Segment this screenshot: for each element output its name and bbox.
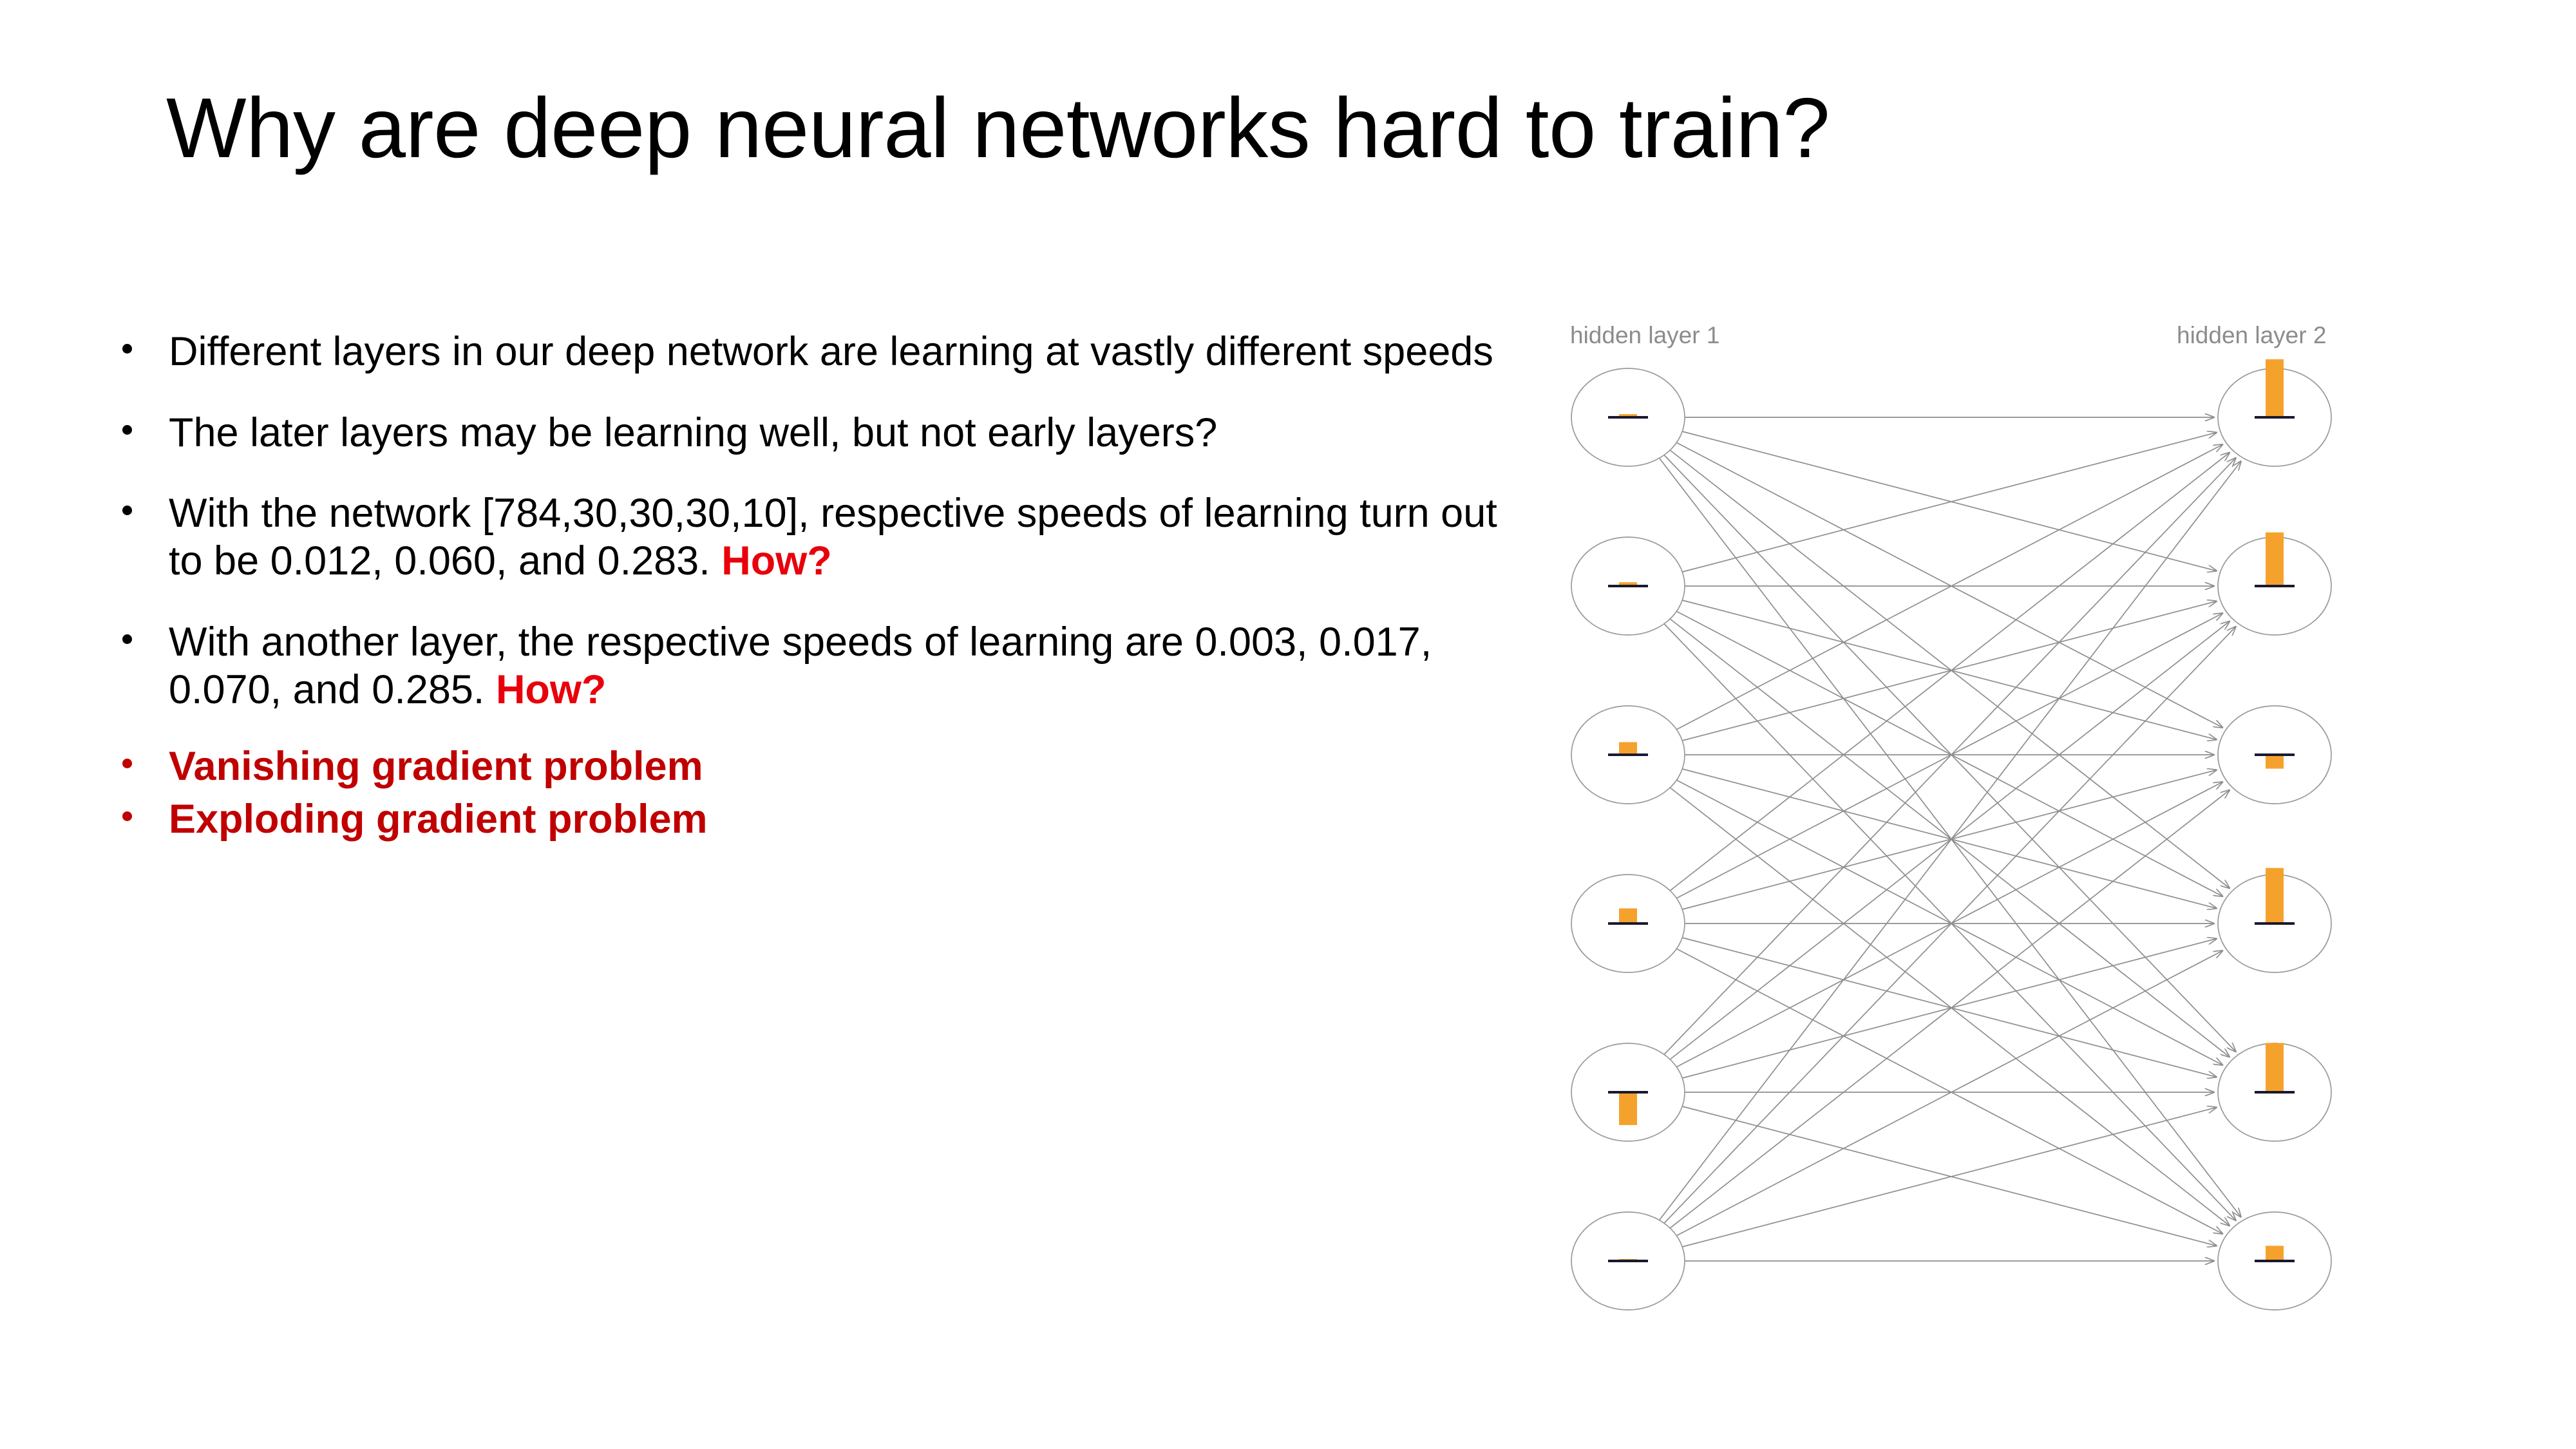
- network-edge: [1682, 1108, 2217, 1247]
- network-edge: [1664, 627, 2236, 1224]
- neuron-hidden-layer-1-6: [1571, 1212, 1685, 1310]
- how-emphasis: How?: [496, 667, 606, 712]
- network-edge: [1682, 600, 2217, 740]
- list-item: Different layers in our deep network are…: [116, 328, 1520, 376]
- network-edge: [1682, 433, 2217, 573]
- network-edge: [1664, 458, 2236, 1055]
- neuron-hidden-layer-1-1: [1571, 368, 1685, 466]
- network-edge: [1676, 780, 2222, 1065]
- network-edge: [1664, 624, 2236, 1221]
- bullet-text: Exploding gradient problem: [169, 797, 708, 842]
- neuron-hidden-layer-1-3: [1571, 706, 1685, 804]
- gradient-bar: [1619, 908, 1637, 923]
- gradient-bar: [1619, 742, 1637, 755]
- list-item: With another layer, the respective speed…: [116, 619, 1520, 714]
- gradient-bar: [2266, 868, 2284, 923]
- gradient-bar: [2266, 1043, 2284, 1092]
- gradient-bar: [1619, 1092, 1637, 1125]
- network-edge: [1676, 782, 2222, 1067]
- network-edge: [1682, 1106, 2217, 1246]
- neuron-hidden-layer-2-3: [2218, 706, 2331, 804]
- how-emphasis: How?: [721, 538, 831, 583]
- gradient-bar: [2266, 533, 2284, 586]
- bullet-dot-icon: [122, 344, 132, 354]
- neuron-hidden-layer-2-1: [2218, 359, 2331, 466]
- network-edge: [1676, 442, 2222, 728]
- neuron-hidden-layer-1-5: [1571, 1043, 1685, 1141]
- network-edge: [1670, 788, 2230, 1226]
- bullet-list: Different layers in our deep network are…: [116, 328, 1520, 849]
- page-title: Why are deep neural networks hard to tra…: [166, 80, 2420, 176]
- network-edges: [1660, 417, 2241, 1261]
- network-edge: [1682, 431, 2217, 571]
- network-edge: [1676, 613, 2222, 898]
- network-edge: [1682, 939, 2217, 1079]
- network-edge: [1682, 769, 2217, 909]
- network-edge: [1676, 611, 2222, 896]
- gradient-bar: [2266, 359, 2284, 417]
- network-edge: [1682, 938, 2217, 1077]
- bullet-text: With the network [784,30,30,30,10], resp…: [169, 491, 1497, 583]
- network-edge: [1682, 601, 2217, 741]
- network-edge: [1664, 455, 2236, 1052]
- neuron-hidden-layer-1-4: [1571, 875, 1685, 972]
- gradient-bar: [2266, 1245, 2284, 1261]
- bullet-text: With another layer, the respective speed…: [169, 620, 1432, 712]
- network-edge: [1660, 461, 2241, 1220]
- neuron-hidden-layer-2-5: [2218, 1043, 2331, 1141]
- network-edge: [1676, 951, 2222, 1236]
- slide-canvas: Why are deep neural networks hard to tra…: [0, 0, 2576, 1449]
- list-item-exploding-gradient: Exploding gradient problem: [116, 796, 1520, 844]
- bullet-dot-icon: [122, 759, 132, 768]
- bullet-dot-icon: [122, 506, 132, 515]
- list-item: The later layers may be learning well, b…: [116, 410, 1520, 457]
- network-edge: [1670, 790, 2230, 1228]
- neuron-hidden-layer-1-2: [1571, 537, 1685, 635]
- bullet-text: Different layers in our deep network are…: [169, 329, 1493, 374]
- neural-network-diagram: hidden layer 1 hidden layer 2: [1533, 322, 2370, 1365]
- neuron-hidden-layer-2-4: [2218, 868, 2331, 972]
- bullet-text: The later layers may be learning well, b…: [169, 410, 1217, 455]
- list-item-vanishing-gradient: Vanishing gradient problem: [116, 743, 1520, 791]
- bullet-dot-icon: [122, 811, 132, 821]
- bullet-dot-icon: [122, 425, 132, 435]
- bullet-text: Vanishing gradient problem: [169, 744, 703, 789]
- network-edge: [1670, 453, 2230, 891]
- network-graph: [1533, 322, 2370, 1365]
- network-edge: [1682, 770, 2217, 910]
- bullet-dot-icon: [122, 634, 132, 644]
- list-item: With the network [784,30,30,30,10], resp…: [116, 490, 1520, 585]
- neuron-hidden-layer-2-2: [2218, 533, 2331, 635]
- neuron-hidden-layer-2-6: [2218, 1212, 2331, 1310]
- gradient-bar: [2266, 755, 2284, 769]
